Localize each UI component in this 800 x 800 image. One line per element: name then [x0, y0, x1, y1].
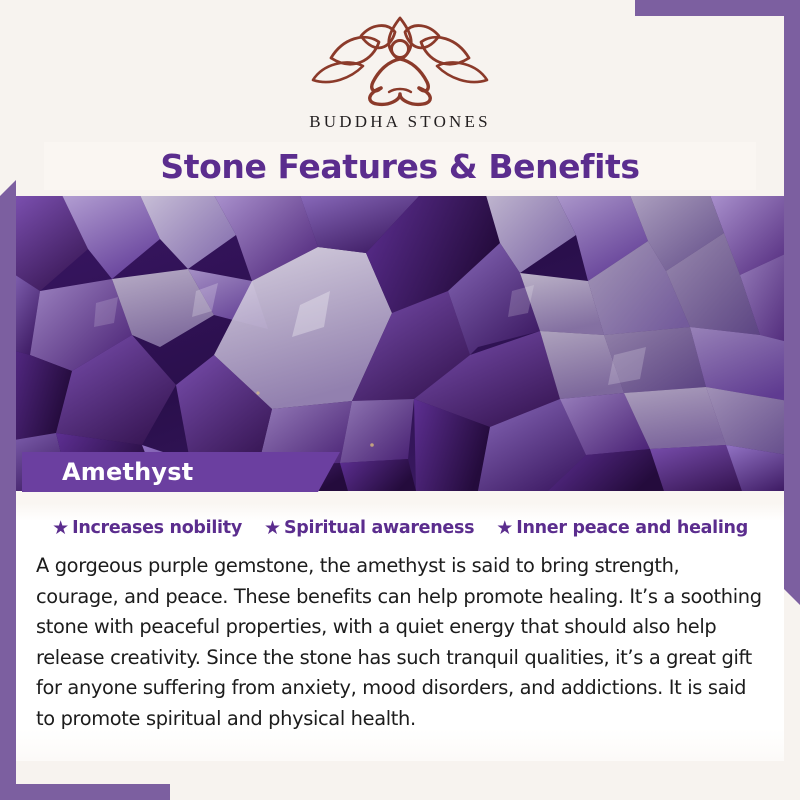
star-icon: ★	[496, 519, 513, 538]
star-icon: ★	[264, 519, 281, 538]
page-title-band: Stone Features & Benefits	[44, 142, 756, 190]
benefit-label: Inner peace and healing	[516, 518, 748, 538]
star-icon: ★	[52, 519, 69, 538]
poster-header: BUDDHA STONES Stone Features & Benefits	[0, 0, 800, 196]
benefit-label: Increases nobility	[72, 518, 242, 538]
brand-logo: BUDDHA STONES	[0, 14, 800, 132]
page-title: Stone Features & Benefits	[160, 147, 639, 186]
stone-description: A gorgeous purple gemstone, the amethyst…	[36, 551, 762, 734]
lotus-meditation-figure-icon	[305, 14, 495, 110]
stone-name: Amethyst	[62, 458, 193, 486]
stone-name-banner: Amethyst	[22, 452, 340, 492]
benefit-item: ★ Spiritual awareness	[264, 518, 474, 538]
benefits-row: ★ Increases nobility ★ Spiritual awarene…	[16, 491, 784, 538]
benefit-label: Spiritual awareness	[284, 518, 474, 538]
benefit-item: ★ Inner peace and healing	[496, 518, 748, 538]
stone-details-panel: ★ Increases nobility ★ Spiritual awarene…	[16, 491, 784, 761]
brand-name: BUDDHA STONES	[0, 112, 800, 132]
benefit-item: ★ Increases nobility	[52, 518, 242, 538]
corner-frame-bottom-left-horizontal	[0, 784, 170, 800]
amethyst-hero-image	[0, 195, 800, 491]
stone-info-poster: BUDDHA STONES Stone Features & Benefits …	[0, 0, 800, 800]
